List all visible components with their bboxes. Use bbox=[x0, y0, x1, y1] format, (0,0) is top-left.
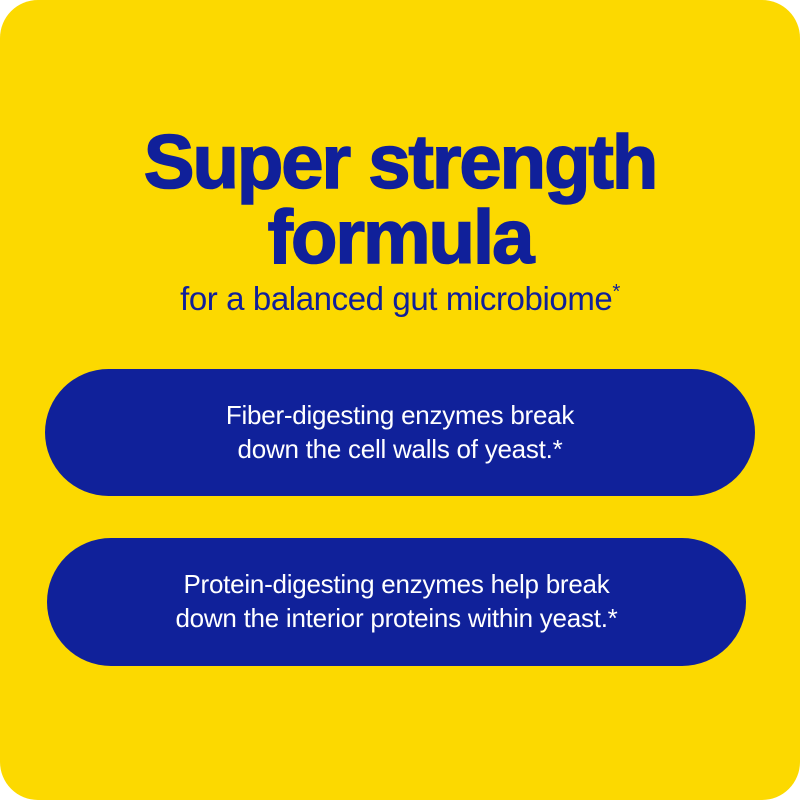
benefit-pill-text: Fiber-digesting enzymes break down the c… bbox=[226, 399, 574, 467]
benefit-pill-line-2: down the interior proteins within yeast.… bbox=[175, 602, 617, 636]
benefit-pill-text: Protein-digesting enzymes help break dow… bbox=[175, 568, 617, 636]
benefit-pill-line-2: down the cell walls of yeast.* bbox=[226, 433, 574, 467]
page-subtitle: for a balanced gut microbiome* bbox=[0, 281, 800, 317]
benefit-pill-line-1: Protein-digesting enzymes help break bbox=[175, 568, 617, 602]
page-title-line-1: Super strength bbox=[0, 125, 800, 200]
promo-card: Super strength formula for a balanced gu… bbox=[0, 0, 800, 800]
benefit-pill-fiber-digesting-enzymes: Fiber-digesting enzymes break down the c… bbox=[45, 369, 755, 496]
page-title-line-2: formula bbox=[0, 200, 800, 275]
benefit-pill-protein-digesting-enzymes: Protein-digesting enzymes help break dow… bbox=[47, 538, 746, 666]
page-title: Super strength formula bbox=[0, 125, 800, 275]
benefit-pill-line-1: Fiber-digesting enzymes break bbox=[226, 399, 574, 433]
footnote-asterisk: * bbox=[612, 280, 620, 303]
page-subtitle-text: for a balanced gut microbiome bbox=[180, 280, 612, 317]
